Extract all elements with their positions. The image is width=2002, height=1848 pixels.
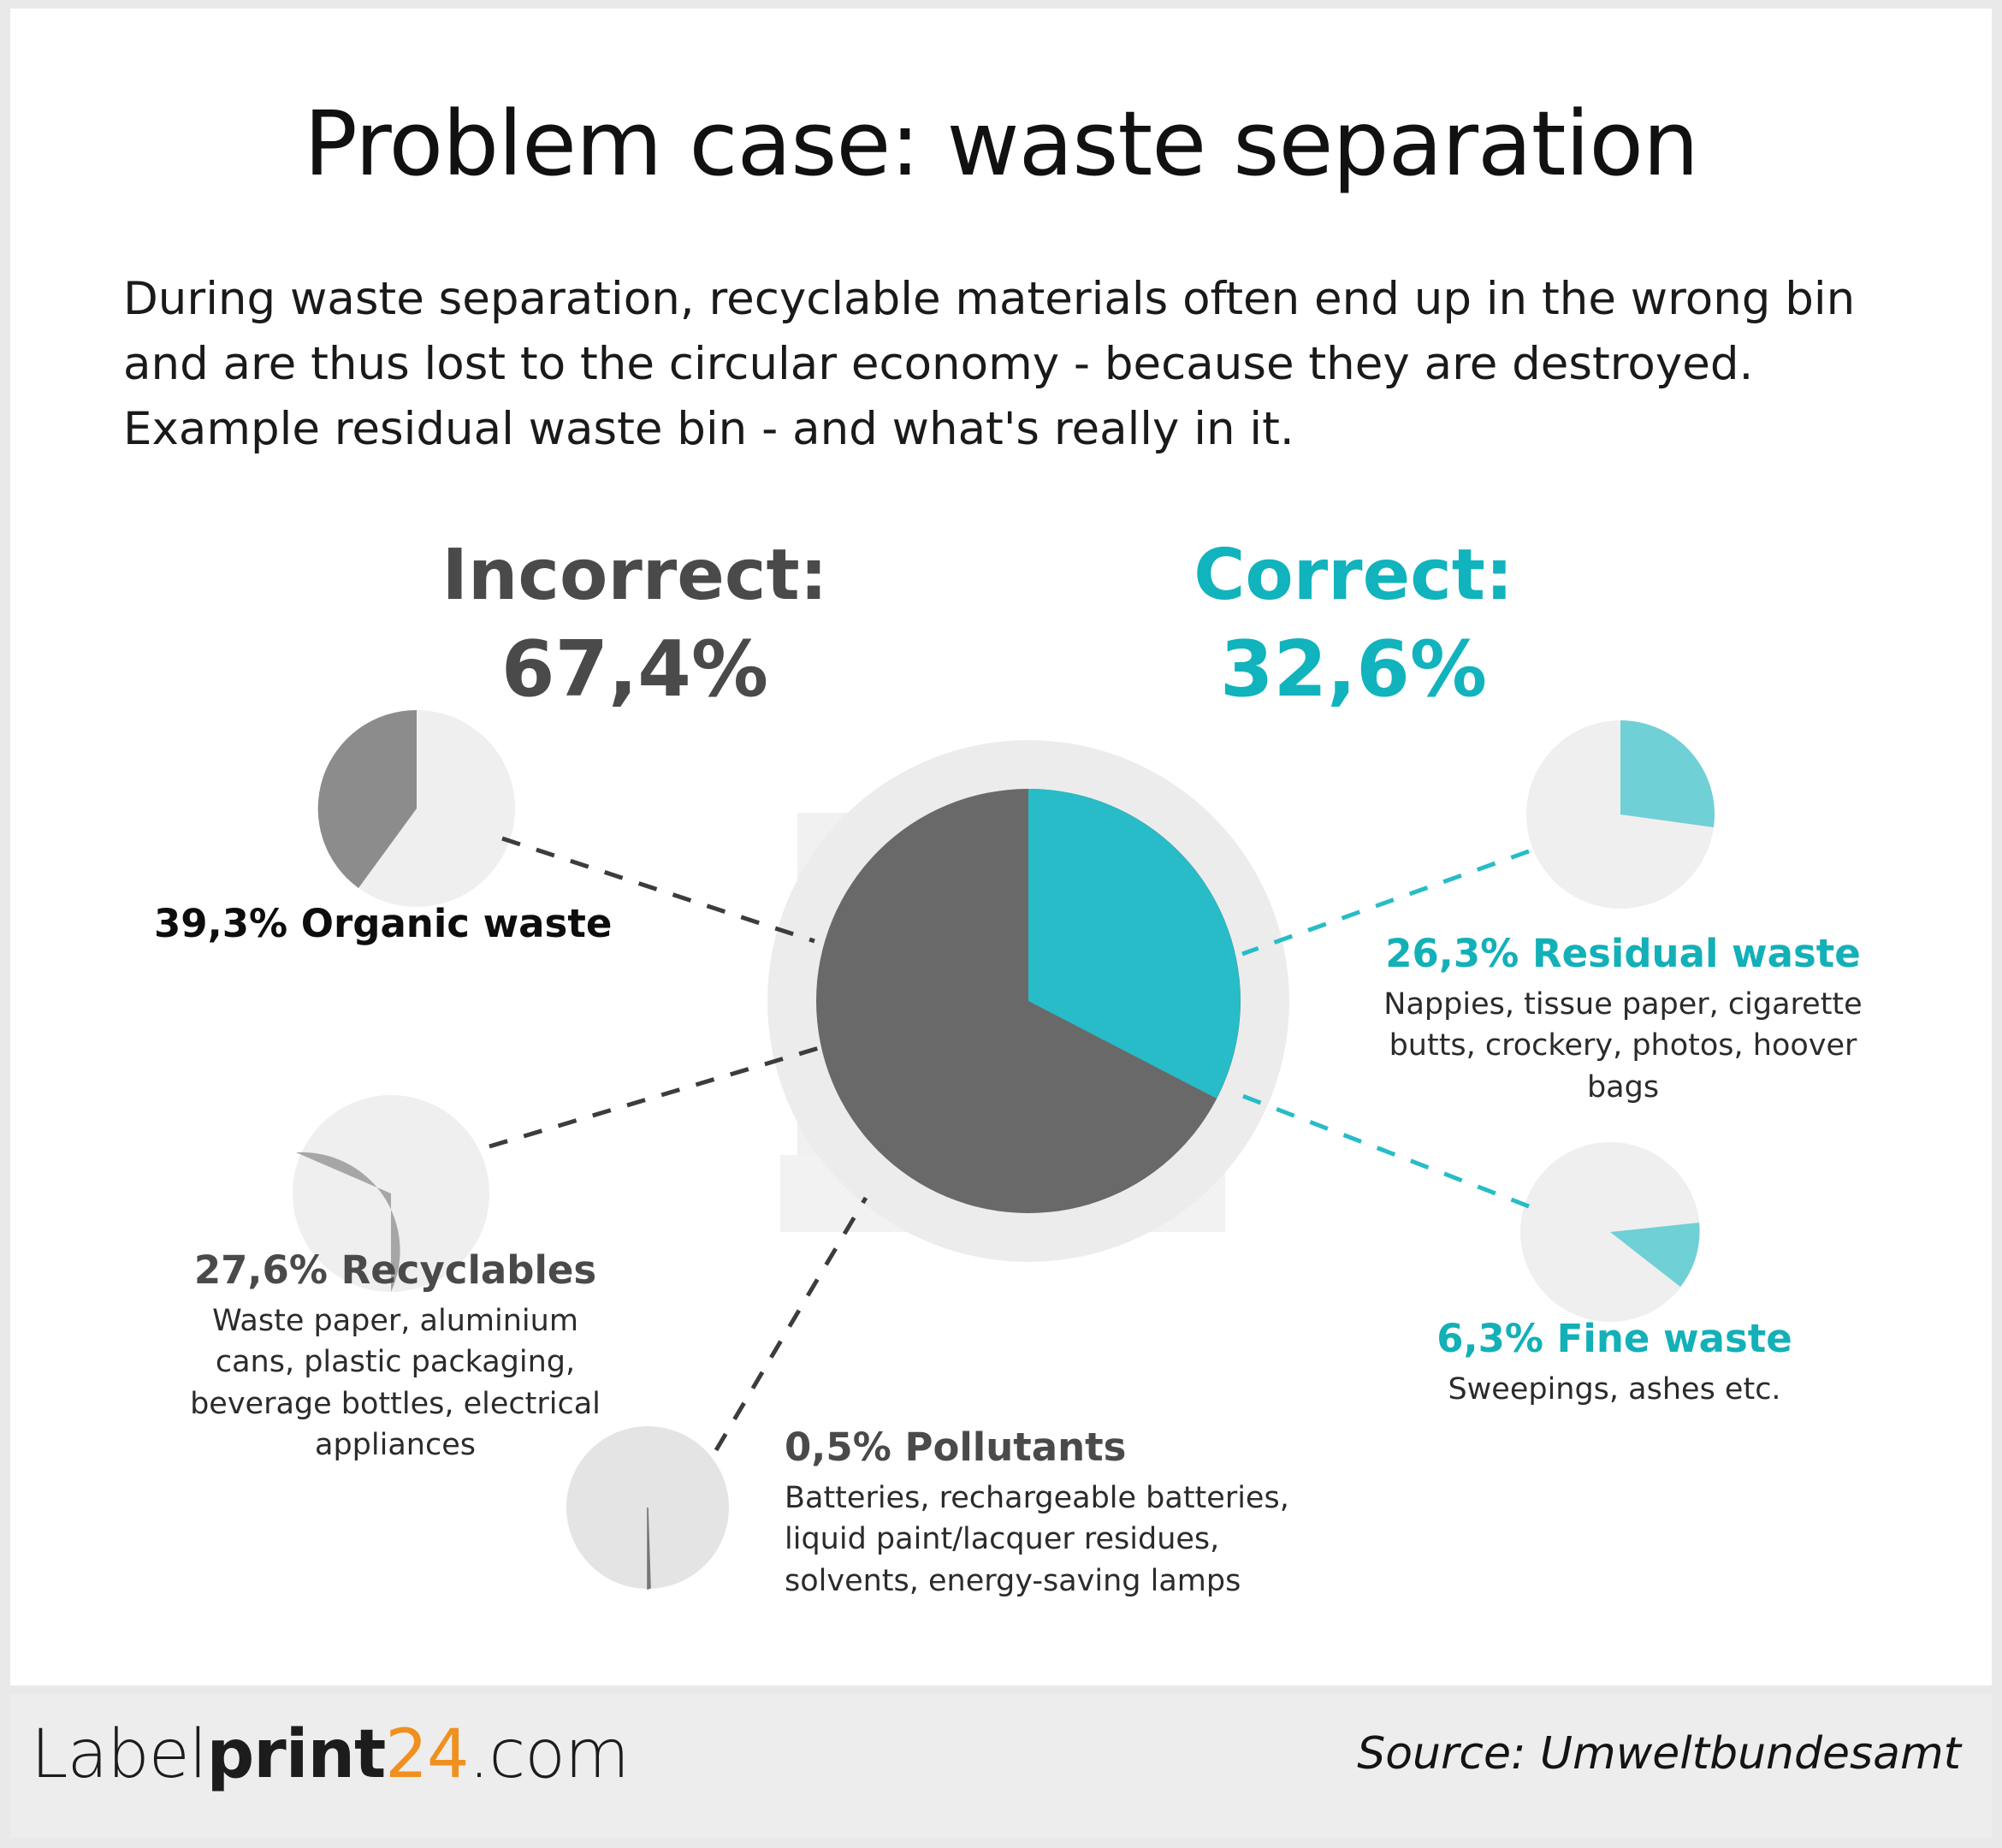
callout-recyclables: 27,6% Recyclables Waste paper, aluminium… — [173, 1247, 618, 1466]
leader-line-pollutants — [716, 1198, 866, 1450]
callout-organic-heading: 39,3% Organic waste — [154, 901, 702, 947]
page-title: Problem case: waste separation — [10, 96, 1992, 192]
headline-correct-value: 32,6% — [1122, 629, 1584, 710]
mini-pie-fine-slice — [1610, 1223, 1699, 1287]
callout-fine-body: Sweepings, ashes etc. — [1426, 1369, 1803, 1410]
mini-pie-fine-background — [1520, 1142, 1700, 1322]
callout-fine-waste: 6,3% Fine waste Sweepings, ashes etc. — [1426, 1316, 1803, 1410]
headline-correct-label: Correct: — [1122, 539, 1584, 613]
callout-fine-heading: 6,3% Fine waste — [1426, 1316, 1803, 1362]
main-pie-chart — [816, 789, 1241, 1213]
callout-organic-waste: 39,3% Organic waste — [154, 901, 702, 954]
callout-residual-waste: 26,3% Residual waste Nappies, tissue pap… — [1379, 931, 1867, 1108]
logo-text-label: Label — [31, 1716, 206, 1793]
logo-text-com: .com — [469, 1716, 629, 1793]
main-pie-slice-correct — [1028, 789, 1241, 1099]
intro-line-1: During waste separation, recyclable mate… — [123, 269, 1877, 329]
logo-text-24: 24 — [385, 1716, 468, 1793]
mini-pie-organic-slice — [318, 710, 417, 888]
headline-incorrect-value: 67,4% — [404, 629, 866, 710]
source-credit: Source: Umweltbundesamt — [1357, 1728, 1961, 1780]
main-pie-halo — [767, 740, 1289, 1262]
leader-line-fine — [1229, 1091, 1529, 1206]
mini-pie-pollutants-slice — [648, 1507, 650, 1589]
mini-pie-residual-slice — [1620, 720, 1715, 827]
intro-line-2: and are thus lost to the circular econom… — [123, 335, 1877, 394]
leader-line-recyclables — [489, 1048, 819, 1146]
main-pie-slice-incorrect — [816, 789, 1241, 1213]
callout-pollutants: 0,5% Pollutants Batteries, rechargeable … — [785, 1424, 1332, 1602]
headline-incorrect-label: Incorrect: — [404, 539, 866, 613]
mini-pie-fine-waste — [1520, 1142, 1700, 1322]
callout-residual-body: Nappies, tissue paper, cigarette butts, … — [1379, 984, 1867, 1108]
callout-recyclables-heading: 27,6% Recyclables — [173, 1247, 618, 1294]
callout-recyclables-body: Waste paper, aluminium cans, plastic pac… — [173, 1300, 618, 1466]
callout-residual-heading: 26,3% Residual waste — [1379, 931, 1867, 977]
mini-pie-residual-background — [1526, 720, 1715, 909]
content-card: Problem case: waste separation During wa… — [10, 9, 1992, 1685]
headline-incorrect: Incorrect: 67,4% — [404, 539, 866, 710]
callout-pollutants-body: Batteries, rechargeable batteries, liqui… — [785, 1478, 1332, 1602]
intro-paragraph: During waste separation, recyclable mate… — [123, 269, 1877, 465]
headline-correct: Correct: 32,6% — [1122, 539, 1584, 710]
callout-pollutants-heading: 0,5% Pollutants — [785, 1424, 1332, 1471]
labelprint24-logo[interactable]: Labelprint24.com — [31, 1721, 629, 1788]
mini-pie-organic-background — [318, 710, 515, 907]
intro-line-3: Example residual waste bin - and what's … — [123, 400, 1877, 459]
mini-pie-residual-waste — [1526, 720, 1715, 909]
mini-pie-organic-waste — [318, 710, 515, 907]
logo-text-print: print — [206, 1716, 385, 1793]
infographic-page: Problem case: waste separation During wa… — [0, 0, 2002, 1848]
bar-chart-watermark — [780, 779, 1225, 1232]
